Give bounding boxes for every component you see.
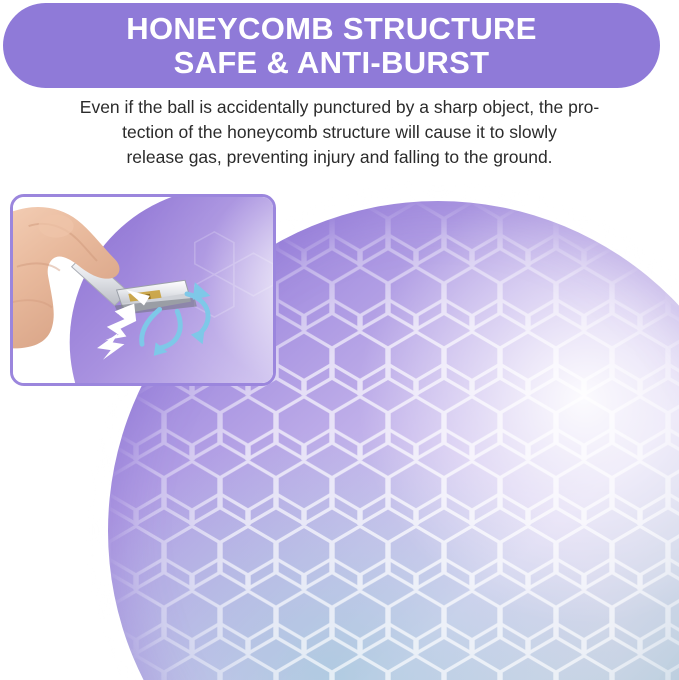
headline-line-2: SAFE & ANTI-BURST <box>174 46 490 80</box>
puncture-demo-inset <box>10 194 276 386</box>
description-line-1: Even if the ball is accidentally punctur… <box>22 95 657 120</box>
header-banner: HONEYCOMB STRUCTURE SAFE & ANTI-BURST <box>3 3 660 88</box>
description-paragraph: Even if the ball is accidentally punctur… <box>22 95 657 170</box>
puncture-demo-illustration <box>13 197 273 383</box>
description-line-3: release gas, preventing injury and falli… <box>22 145 657 170</box>
headline-line-1: HONEYCOMB STRUCTURE <box>126 12 536 46</box>
description-line-2: tection of the honeycomb structure will … <box>22 120 657 145</box>
